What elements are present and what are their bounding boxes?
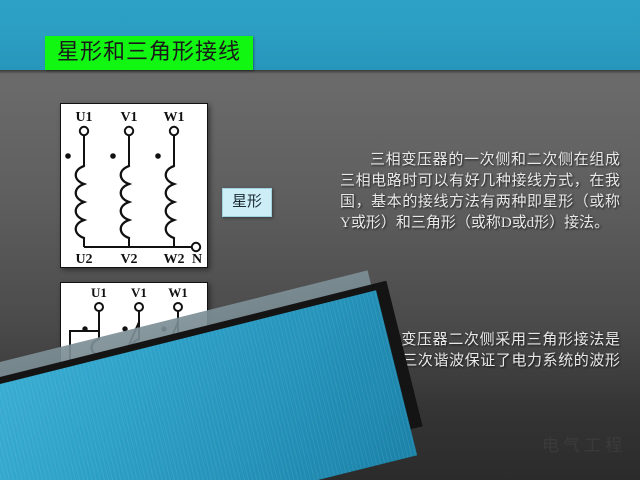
star-terminal-v1 bbox=[125, 127, 133, 135]
header-shadow bbox=[0, 70, 640, 74]
star-winding-v bbox=[121, 166, 129, 238]
watermark-text: 电气工程 bbox=[542, 431, 626, 456]
star-terminal-w1 bbox=[170, 127, 178, 135]
star-label-v2: V2 bbox=[120, 252, 137, 267]
star-label-u1: U1 bbox=[75, 110, 92, 125]
delta-label-v1: V1 bbox=[131, 285, 147, 300]
star-terminal-n bbox=[192, 243, 200, 251]
star-winding-u bbox=[76, 166, 84, 238]
delta-label-w1: W1 bbox=[168, 285, 188, 300]
slide-title-box: 星形和三角形接线 bbox=[45, 36, 253, 70]
delta-terminal-w1 bbox=[174, 303, 182, 311]
star-polarity-dot-w bbox=[155, 153, 161, 159]
star-diagram-svg: U1 V1 W1 bbox=[61, 104, 207, 267]
star-label-w2: W2 bbox=[164, 252, 185, 267]
star-terminal-u1 bbox=[80, 127, 88, 135]
delta-terminal-v1 bbox=[135, 303, 143, 311]
star-winding-w bbox=[166, 166, 174, 238]
star-label-v1: V1 bbox=[120, 110, 137, 125]
star-polarity-dot-u bbox=[65, 153, 71, 159]
badge-star-label: 星形 bbox=[232, 194, 262, 210]
paragraph-transformer-connection-types: 三相变压器的一次侧和二次侧在组成三相电路时可以有好几种接线方式，在我国，基本的接… bbox=[340, 150, 620, 234]
page-title: 星形和三角形接线 bbox=[57, 39, 241, 64]
star-polarity-dot-v bbox=[110, 153, 116, 159]
delta-terminal-u1 bbox=[95, 303, 103, 311]
star-label-u2: U2 bbox=[75, 252, 92, 267]
delta-label-u1: U1 bbox=[91, 285, 107, 300]
badge-star-connection: 星形 bbox=[222, 188, 272, 217]
star-label-n: N bbox=[192, 252, 202, 267]
slide-canvas: 星形和三角形接线 U1 V1 W1 bbox=[0, 0, 640, 480]
star-label-w1: W1 bbox=[164, 110, 185, 125]
star-connection-diagram: U1 V1 W1 bbox=[60, 103, 208, 268]
